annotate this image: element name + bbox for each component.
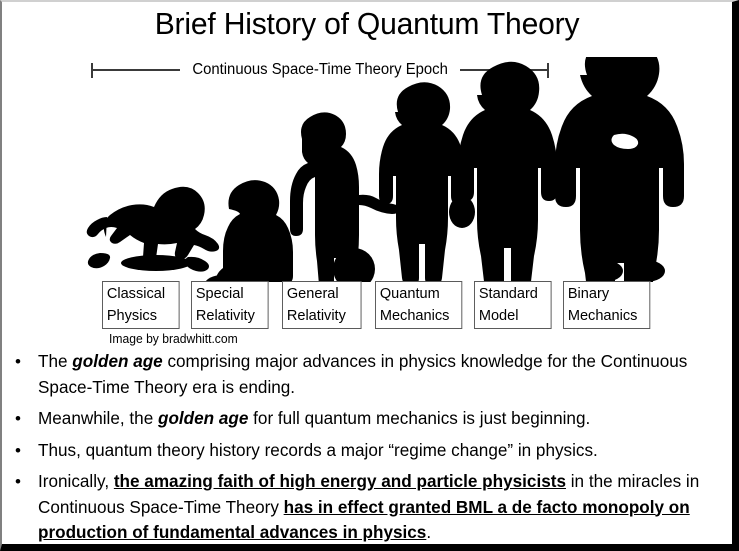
page-title: Brief History of Quantum Theory — [13, 6, 721, 42]
era-box-line1: General — [287, 285, 339, 302]
bullet-text: Ironically, the amazing faith of high en… — [38, 469, 716, 544]
era-box-standard-model[interactable]: Standard Model — [474, 281, 552, 329]
list-item: • The golden age comprising major advanc… — [10, 349, 726, 400]
list-item: • Meanwhile, the golden age for full qua… — [10, 406, 726, 432]
image-credit: Image by bradwhitt.com — [109, 332, 238, 346]
era-box-binary-mechanics[interactable]: Binary Mechanics — [563, 281, 650, 329]
bullet-marker-icon: • — [15, 469, 21, 495]
bullet-text: The golden age comprising major advances… — [38, 349, 716, 400]
era-box-classical-physics[interactable]: Classical Physics — [102, 281, 180, 329]
era-box-line2: Mechanics — [568, 307, 638, 324]
era-box-quantum-mechanics[interactable]: Quantum Mechanics — [375, 281, 462, 329]
slide-frame: Brief History of Quantum Theory Continuo… — [0, 0, 739, 551]
era-box-line1: Classical — [107, 285, 165, 302]
list-item: • Ironically, the amazing faith of high … — [10, 469, 726, 544]
era-box-line2: Relativity — [287, 307, 346, 324]
bullet-marker-icon: • — [15, 406, 21, 432]
era-box-line1: Standard — [479, 285, 538, 302]
era-box-line2: Relativity — [196, 307, 255, 324]
growth-silhouette-illustration — [2, 57, 732, 282]
bullet-text: Meanwhile, the golden age for full quant… — [38, 406, 716, 432]
list-item: • Thus, quantum theory history records a… — [10, 438, 726, 464]
era-box-line2: Mechanics — [380, 307, 450, 324]
bullet-marker-icon: • — [15, 438, 21, 464]
era-box-line2: Physics — [107, 307, 157, 324]
era-box-special-relativity[interactable]: Special Relativity — [191, 281, 269, 329]
era-box-line1: Quantum — [380, 285, 440, 302]
bullet-list: • The golden age comprising major advanc… — [10, 349, 726, 544]
bullet-text: Thus, quantum theory history records a m… — [38, 438, 716, 464]
era-box-general-relativity[interactable]: General Relativity — [282, 281, 362, 329]
bullet-marker-icon: • — [15, 349, 21, 375]
crawling-baby-silhouette — [87, 187, 219, 272]
slide-canvas: Brief History of Quantum Theory Continuo… — [2, 2, 732, 544]
era-box-line1: Special — [196, 285, 244, 302]
sitting-baby-silhouette — [205, 180, 293, 282]
era-box-line2: Model — [479, 307, 519, 324]
older-child-silhouette — [458, 62, 557, 282]
adult-man-silhouette — [555, 57, 684, 282]
era-box-line1: Binary — [568, 285, 609, 302]
